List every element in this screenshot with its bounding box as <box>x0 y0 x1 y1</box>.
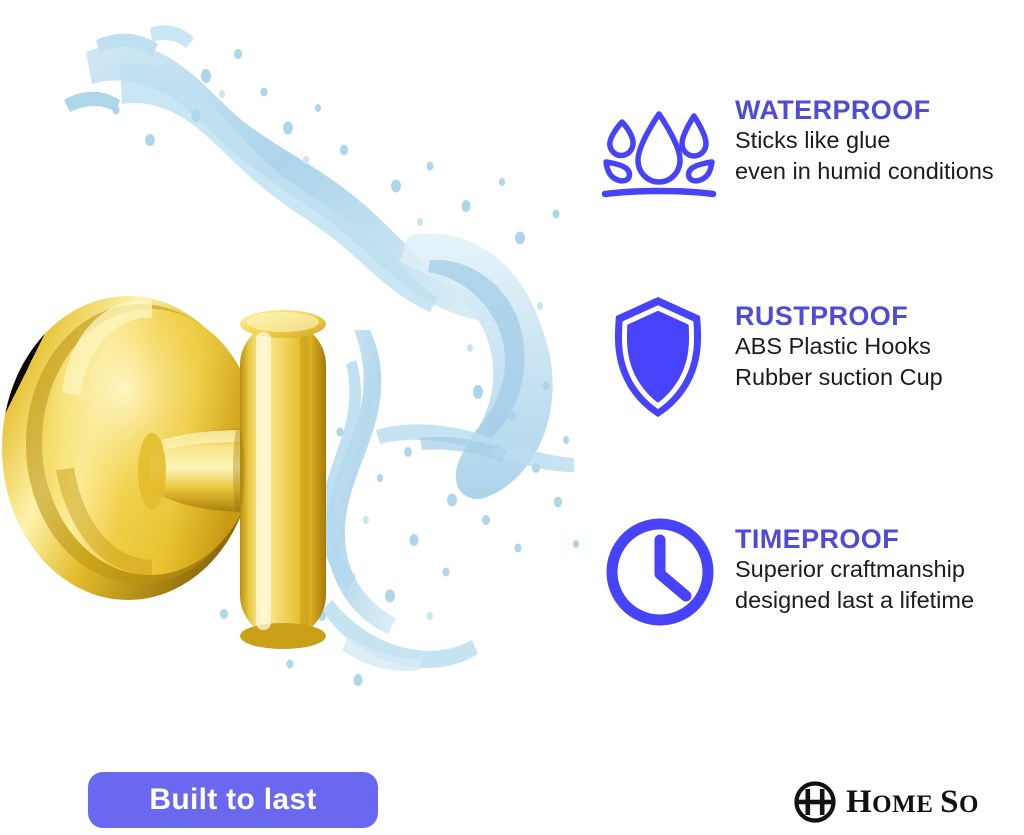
feature-rustproof-title: RUSTPROOF <box>735 302 943 331</box>
feature-waterproof-title: WATERPROOF <box>735 96 994 125</box>
clock-icon <box>604 516 716 628</box>
feature-timeproof-title: TIMEPROOF <box>735 525 974 554</box>
brand-o: O <box>959 791 979 818</box>
feature-timeproof-text: TIMEPROOF Superior craftmanship designed… <box>735 525 974 616</box>
water-droplets-icon <box>600 104 718 200</box>
circled-h-monogram-icon <box>793 780 837 824</box>
feature-rustproof-text: RUSTPROOF ABS Plastic Hooks Rubber sucti… <box>735 302 943 393</box>
shield-icon <box>610 294 706 420</box>
gold-hook-product <box>0 0 600 720</box>
feature-timeproof-line-1: Superior craftmanship <box>735 554 974 585</box>
feature-waterproof-line-2: even in humid conditions <box>735 156 994 187</box>
feature-rustproof-line-1: ABS Plastic Hooks <box>735 331 943 362</box>
feature-timeproof-line-2: designed last a lifetime <box>735 585 974 616</box>
brand-s: S <box>940 784 959 820</box>
brand-h: H <box>846 784 872 820</box>
brand-ome: OME <box>872 791 940 818</box>
feature-waterproof-text: WATERPROOF Sticks like glue even in humi… <box>735 96 994 187</box>
built-to-last-label: Built to last <box>149 783 316 817</box>
feature-rustproof-line-2: Rubber suction Cup <box>735 362 943 393</box>
product-photo <box>0 0 600 720</box>
infographic-canvas: WATERPROOF Sticks like glue even in humi… <box>0 0 1024 835</box>
brand-logo: HOME SO <box>793 780 979 824</box>
brand-wordmark: HOME SO <box>846 786 979 819</box>
feature-waterproof-line-1: Sticks like glue <box>735 125 994 156</box>
built-to-last-badge: Built to last <box>88 772 378 828</box>
